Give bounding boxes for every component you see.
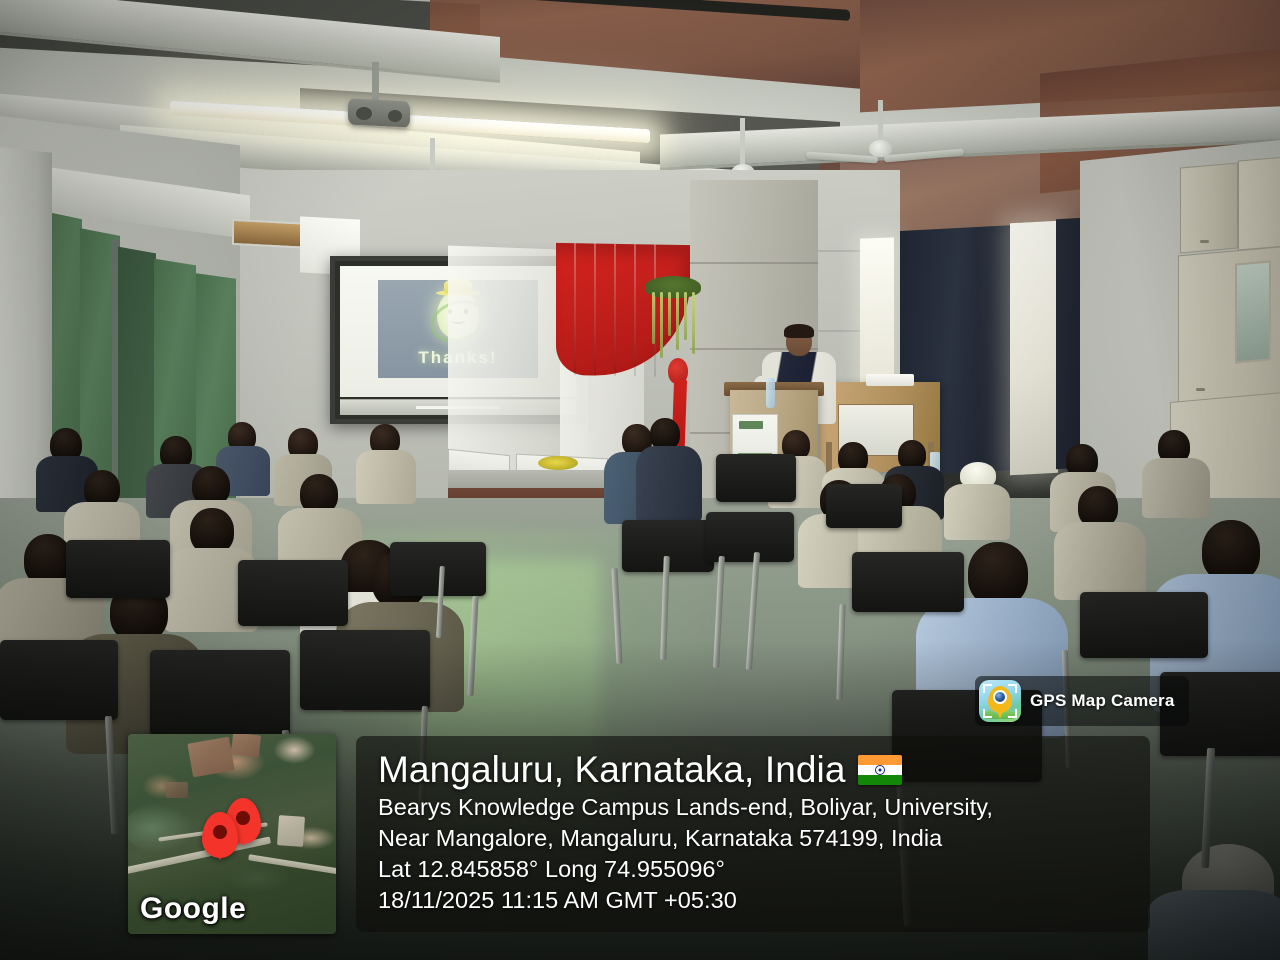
icon-frame-corner bbox=[1008, 709, 1017, 718]
map-building bbox=[166, 782, 188, 798]
flower-arrangement bbox=[538, 456, 578, 470]
hanging-vine bbox=[652, 292, 655, 344]
gps-map-camera-label: GPS Map Camera bbox=[1030, 691, 1175, 711]
ceiling-fan-rod bbox=[740, 118, 745, 168]
hanging-vine bbox=[676, 292, 679, 350]
ceiling-fan-rod bbox=[430, 138, 435, 174]
hanging-vine bbox=[692, 292, 695, 354]
map-building bbox=[277, 815, 305, 847]
india-flag-icon bbox=[858, 755, 902, 785]
map-building bbox=[231, 734, 261, 757]
map-building bbox=[187, 737, 234, 778]
map-pin-dot bbox=[213, 825, 227, 839]
window-light bbox=[1010, 221, 1058, 476]
gps-map-camera-badge: GPS Map Camera bbox=[975, 676, 1189, 726]
cupboard-door bbox=[1180, 162, 1238, 253]
chair-back bbox=[826, 484, 902, 528]
location-title-row: Mangaluru, Karnataka, India bbox=[378, 748, 1130, 792]
icon-frame-corner bbox=[983, 684, 992, 693]
ashoka-chakra-icon bbox=[875, 765, 885, 775]
location-info-panel: Mangaluru, Karnataka, India Bearys Knowl… bbox=[356, 736, 1150, 932]
chair-back bbox=[1080, 592, 1208, 658]
location-title: Mangaluru, Karnataka, India bbox=[378, 748, 846, 792]
banner-logo bbox=[739, 421, 763, 429]
map-location-pin bbox=[202, 812, 238, 858]
projector-lens bbox=[356, 107, 372, 120]
chair-back bbox=[300, 630, 430, 710]
google-watermark: Google bbox=[140, 892, 246, 926]
address-line-1: Bearys Knowledge Campus Lands-end, Boliy… bbox=[378, 792, 1130, 823]
hanging-vine bbox=[684, 292, 687, 340]
hanging-vine bbox=[668, 292, 671, 336]
chair-back bbox=[150, 650, 290, 736]
chair-back bbox=[0, 640, 118, 720]
cupboard-handle bbox=[1200, 240, 1209, 243]
timestamp-line: 18/11/2025 11:15 AM GMT +05:30 bbox=[378, 885, 1130, 916]
chair-back bbox=[66, 540, 170, 598]
map-thumbnail[interactable]: Google bbox=[128, 734, 336, 934]
chair-back bbox=[716, 454, 796, 502]
presenter-hair bbox=[784, 324, 814, 338]
photo-canvas: Thanks! bbox=[0, 0, 1280, 960]
cupboard-glass-panel bbox=[1235, 260, 1271, 363]
water-bottle bbox=[766, 378, 775, 408]
projector-lens bbox=[388, 110, 402, 122]
chair-back bbox=[706, 512, 794, 562]
ceiling-fan-rod bbox=[878, 100, 883, 144]
icon-frame-corner bbox=[1008, 684, 1017, 693]
cupboard-handle bbox=[1196, 388, 1205, 391]
hanging-vine bbox=[660, 292, 663, 358]
map-pin-dot bbox=[236, 811, 250, 825]
chair-back bbox=[238, 560, 348, 626]
icon-frame-corner bbox=[983, 709, 992, 718]
column-seam bbox=[690, 262, 818, 264]
address-line-2: Near Mangalore, Mangaluru, Karnataka 574… bbox=[378, 823, 1130, 854]
paper-stack bbox=[866, 374, 914, 386]
gps-map-camera-icon bbox=[979, 680, 1021, 722]
icon-camera-lens bbox=[993, 690, 1007, 704]
chair-back bbox=[852, 552, 964, 612]
coordinates-line: Lat 12.845858° Long 74.955096° bbox=[378, 854, 1130, 885]
cupboard-door bbox=[1238, 155, 1280, 250]
